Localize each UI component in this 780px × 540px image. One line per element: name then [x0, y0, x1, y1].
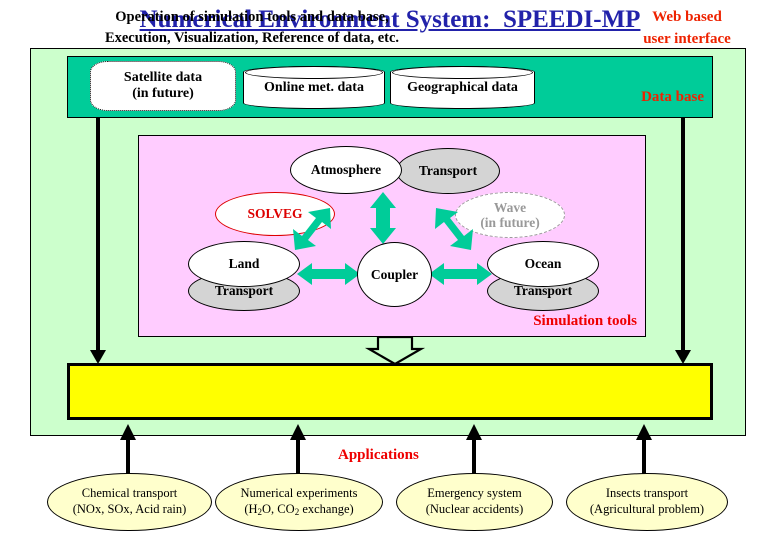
application-chemical-transport-label: Chemical transport(NOx, SOx, Acid rain): [71, 486, 189, 517]
application-chemical-transport[interactable]: Chemical transport(NOx, SOx, Acid rain): [47, 473, 212, 531]
application-insects-transport-label: Insects transport(Agricultural problem): [588, 486, 706, 517]
db-cylinder-geographical-label: Geographical data: [403, 80, 522, 96]
node-atmosphere-transport-label: Transport: [416, 163, 480, 178]
applications-label: Applications: [338, 447, 419, 464]
node-ocean-label: Ocean: [522, 256, 565, 271]
node-ocean[interactable]: Ocean: [487, 241, 599, 287]
diagram-root: Numerical Environment System: SPEEDI-MP: [0, 0, 780, 540]
db-cylinder-satellite-label: Satellite data(in future): [120, 70, 206, 101]
cylinder-top-cap: [392, 66, 533, 79]
operation-bar-text: Operation of simulation tools and data b…: [42, 7, 462, 49]
node-land-label: Land: [226, 256, 263, 271]
web-ui-label: Web based user interface: [612, 7, 762, 51]
node-atmosphere-label: Atmosphere: [308, 162, 384, 177]
application-emergency-system-label: Emergency system(Nuclear accidents): [424, 486, 526, 517]
node-solveg[interactable]: SOLVEG: [215, 192, 335, 236]
application-numerical-experiments-label: Numerical experiments(H2O, CO2 exchange): [239, 486, 360, 518]
operation-bar: [67, 363, 713, 420]
node-atmosphere-transport[interactable]: Transport: [396, 148, 500, 194]
cylinder-top-cap: [245, 66, 383, 79]
db-cylinder-satellite[interactable]: Satellite data(in future): [90, 61, 236, 111]
node-coupler-label: Coupler: [368, 267, 421, 282]
node-land[interactable]: Land: [188, 241, 300, 287]
simulation-tools-label: Simulation tools: [533, 313, 637, 330]
node-wave[interactable]: Wave(in future): [455, 192, 565, 238]
application-numerical-experiments[interactable]: Numerical experiments(H2O, CO2 exchange): [215, 473, 383, 531]
application-insects-transport[interactable]: Insects transport(Agricultural problem): [566, 473, 728, 531]
db-cylinder-online-met-label: Online met. data: [260, 80, 368, 96]
node-solveg-label: SOLVEG: [244, 206, 305, 221]
database-label: Data base: [641, 89, 704, 106]
application-emergency-system[interactable]: Emergency system(Nuclear accidents): [396, 473, 553, 531]
node-atmosphere[interactable]: Atmosphere: [290, 146, 402, 194]
node-wave-label: Wave(in future): [477, 200, 542, 230]
node-coupler[interactable]: Coupler: [357, 242, 432, 307]
db-cylinder-geographical[interactable]: Geographical data: [390, 66, 535, 109]
db-cylinder-online-met[interactable]: Online met. data: [243, 66, 385, 109]
